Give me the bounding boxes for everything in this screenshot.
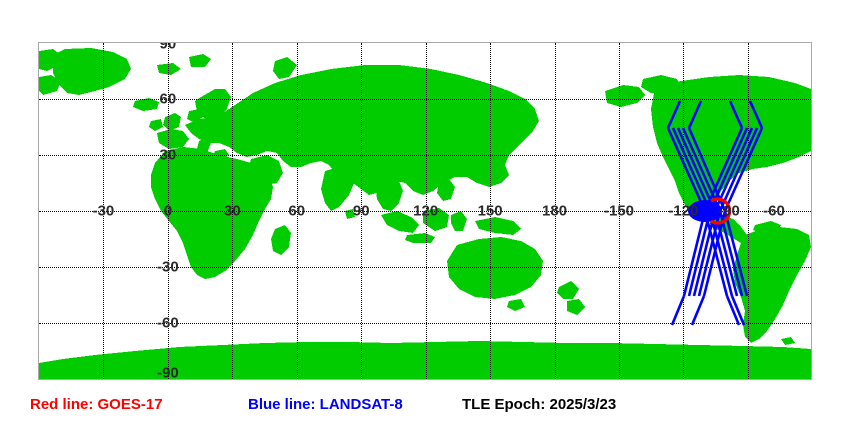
- lon-tick-90: 90: [353, 204, 370, 219]
- lat-tick-minus60: -60: [157, 316, 179, 331]
- figure-canvas: -30 0 30 60 90 120 150 180 -150 -120 -90…: [0, 0, 850, 425]
- lon-tick-180: 180: [542, 204, 567, 219]
- lat-tick-0: 0: [164, 204, 172, 219]
- lon-tick-minus30: -30: [93, 204, 115, 219]
- lon-tick-minus150: -150: [604, 204, 634, 219]
- lon-tick-120: 120: [413, 204, 438, 219]
- legend-landsat8: Blue line: LANDSAT-8: [248, 392, 403, 418]
- lon-tick-minus90: -90: [718, 204, 740, 219]
- lon-tick-minus120: -120: [668, 204, 698, 219]
- lon-tick-30: 30: [224, 204, 241, 219]
- lat-tick-minus30: -30: [157, 260, 179, 275]
- lat-tick-60: 60: [160, 92, 177, 107]
- lat-tick-90: 90: [160, 42, 177, 52]
- lon-tick-150: 150: [478, 204, 503, 219]
- legend-goes17: Red line: GOES-17: [30, 392, 163, 418]
- world-map-plot: -30 0 30 60 90 120 150 180 -150 -120 -90…: [38, 42, 812, 380]
- lat-tick-30: 30: [160, 148, 177, 163]
- lon-tick-minus60: -60: [763, 204, 785, 219]
- legend-caption-row: Red line: GOES-17 Blue line: LANDSAT-8 T…: [0, 392, 850, 418]
- lon-tick-60: 60: [288, 204, 305, 219]
- legend-tle-epoch: TLE Epoch: 2025/3/23: [462, 392, 616, 418]
- lat-tick-minus90: -90: [157, 366, 179, 381]
